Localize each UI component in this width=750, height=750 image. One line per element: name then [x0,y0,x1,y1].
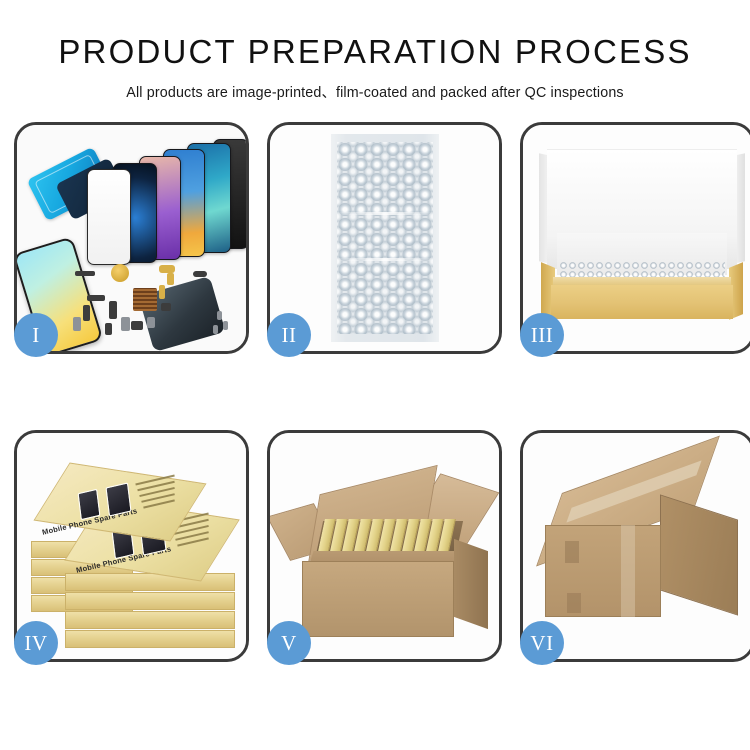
step-badge-2: II [267,313,311,357]
sealed-carton-icon [523,433,750,659]
step-badge-3: III [520,313,564,357]
process-step-panel-6: VI [520,430,750,662]
process-steps-grid: I II III [4,122,746,662]
process-step-panel-1: I [14,122,249,354]
page-title: PRODUCT PREPARATION PROCESS [0,34,750,70]
bubble-wrap-icon [270,125,499,351]
box-stack-icon: Mobile Phone Spare Parts Mobile Phone Sp… [17,433,246,659]
process-step-panel-2: II [267,122,502,354]
open-carton-icon [270,433,499,659]
process-step-panel-3: III [520,122,750,354]
step-badge-6: VI [520,621,564,665]
phone-parts-icon [17,125,246,351]
step-badge-4: IV [14,621,58,665]
page-subtitle: All products are image-printed、film-coat… [0,81,750,102]
step-badge-1: I [14,313,58,357]
process-step-panel-4: Mobile Phone Spare Parts Mobile Phone Sp… [14,430,249,662]
step-badge-5: V [267,621,311,665]
open-flat-box-icon [523,125,750,351]
page-header: PRODUCT PREPARATION PROCESS All products… [0,0,750,102]
process-step-panel-5: V [267,430,502,662]
